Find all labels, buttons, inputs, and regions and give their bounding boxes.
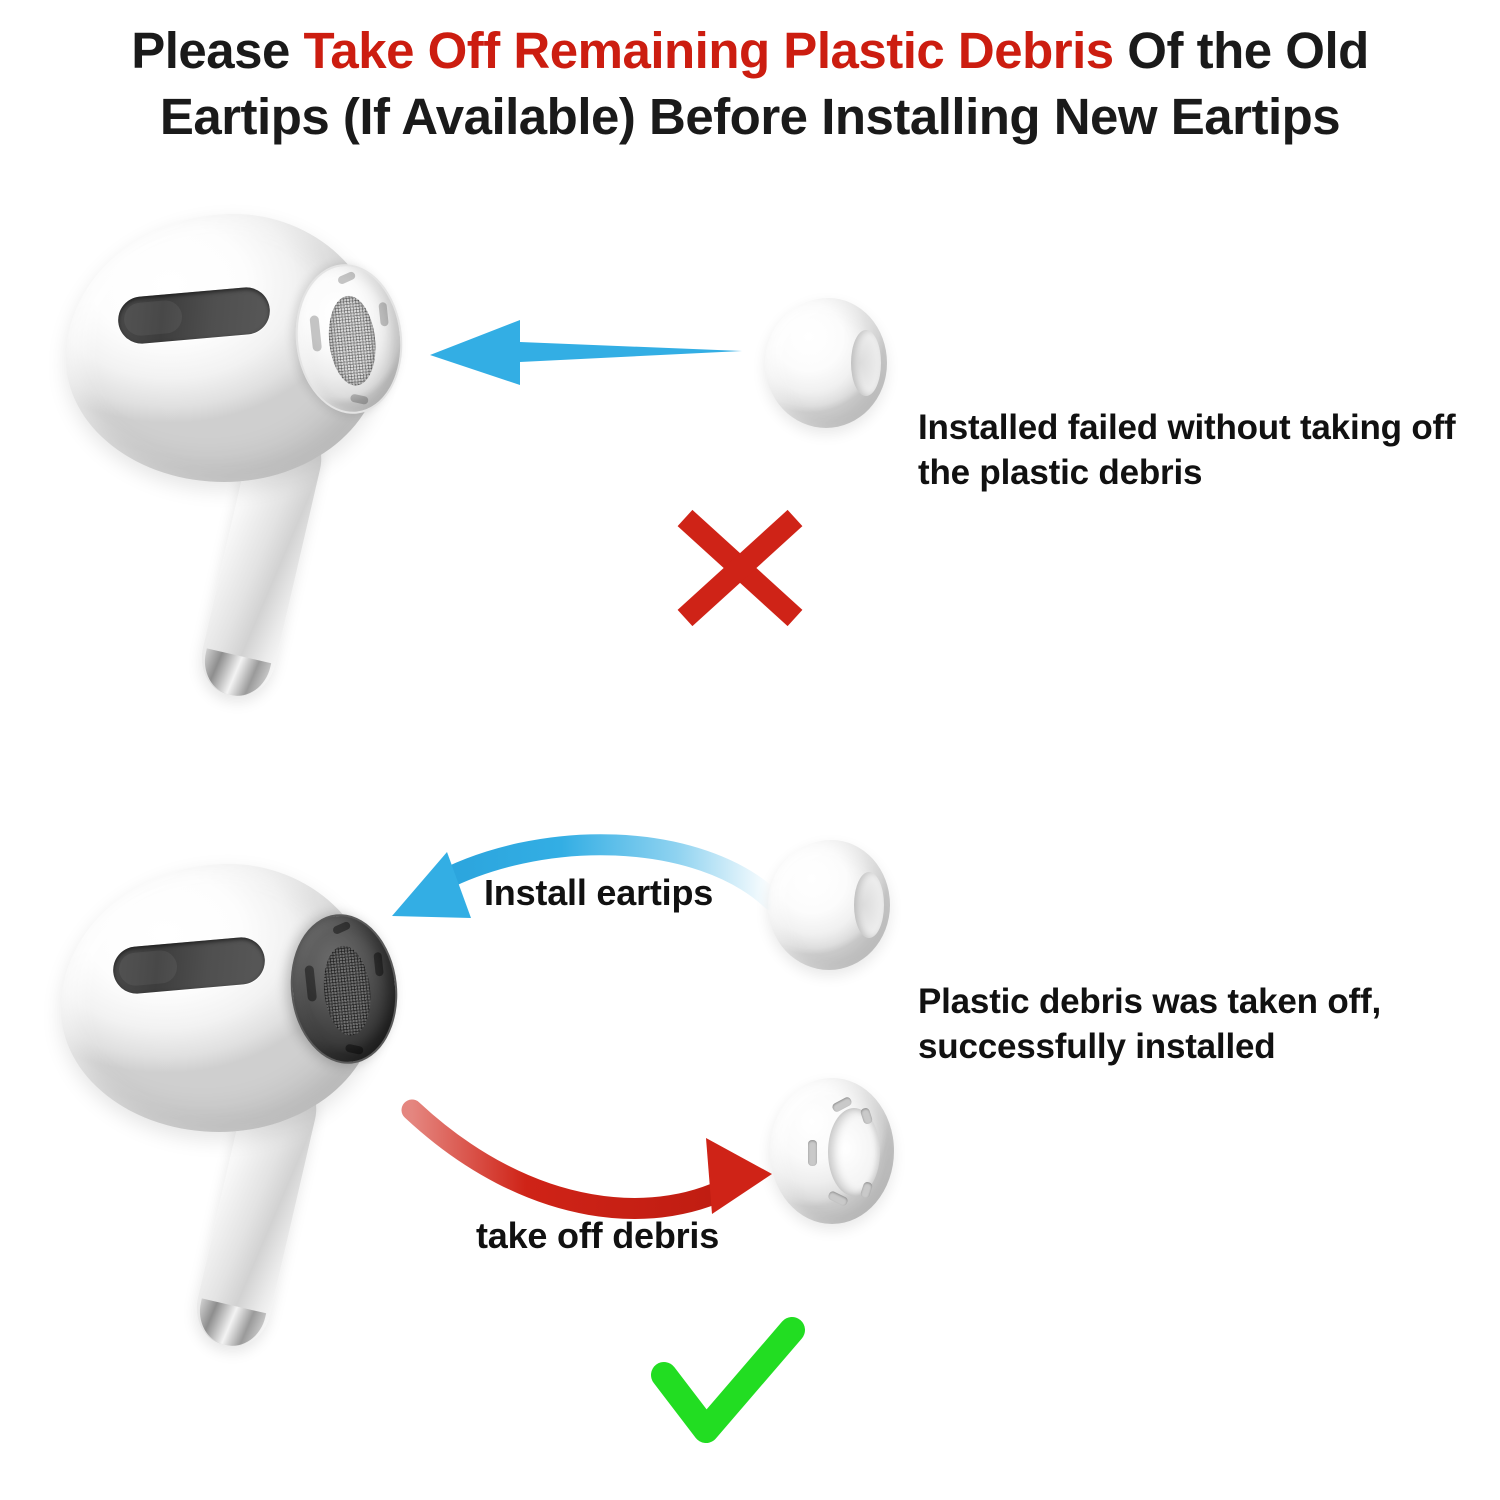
debris-ring-slot (808, 1140, 817, 1166)
caption-success: Plastic debris was taken off, successful… (918, 980, 1488, 1070)
page-title: Please Take Off Remaining Plastic Debris… (0, 18, 1500, 151)
airpod-vent-icon (111, 935, 267, 995)
label-take-off-debris: take off debris (476, 1215, 719, 1257)
label-install-eartips: Install eartips (484, 872, 713, 914)
nozzle-slot (378, 302, 388, 327)
nozzle-slot (345, 1043, 364, 1055)
nozzle-slot (304, 965, 317, 1002)
title-highlight: Take Off Remaining Plastic Debris (304, 22, 1114, 79)
plastic-debris-ring (770, 1078, 894, 1224)
airpod-pro-with-debris (60, 210, 480, 710)
instruction-diagram: Please Take Off Remaining Plastic Debris… (0, 0, 1500, 1500)
airpod-pro-debris-removed (55, 860, 475, 1360)
nozzle-slot (309, 315, 322, 352)
panel-successful-install: Install eartips take off debris Plastic … (0, 790, 1500, 1480)
caption-failed: Installed failed without taking off the … (918, 406, 1478, 496)
title-part-1: Please (131, 22, 303, 79)
green-check-mark-icon (664, 1330, 792, 1430)
nozzle-slot (332, 921, 352, 936)
eartip-bore (854, 872, 884, 938)
panel-failed-install: Installed failed without taking off the … (0, 170, 1500, 860)
red-x-mark-icon (685, 518, 795, 618)
eartip-bore (851, 330, 881, 396)
nozzle-slot (373, 952, 383, 977)
airpod-vent-icon (116, 285, 272, 345)
debris-ring-hole (828, 1108, 880, 1196)
nozzle-slot (350, 393, 369, 405)
nozzle-mesh-grille (320, 944, 375, 1038)
nozzle-slot (337, 271, 357, 286)
silicone-eartip (768, 840, 890, 970)
nozzle-mesh-grille (325, 294, 380, 388)
silicone-eartip (765, 298, 887, 428)
